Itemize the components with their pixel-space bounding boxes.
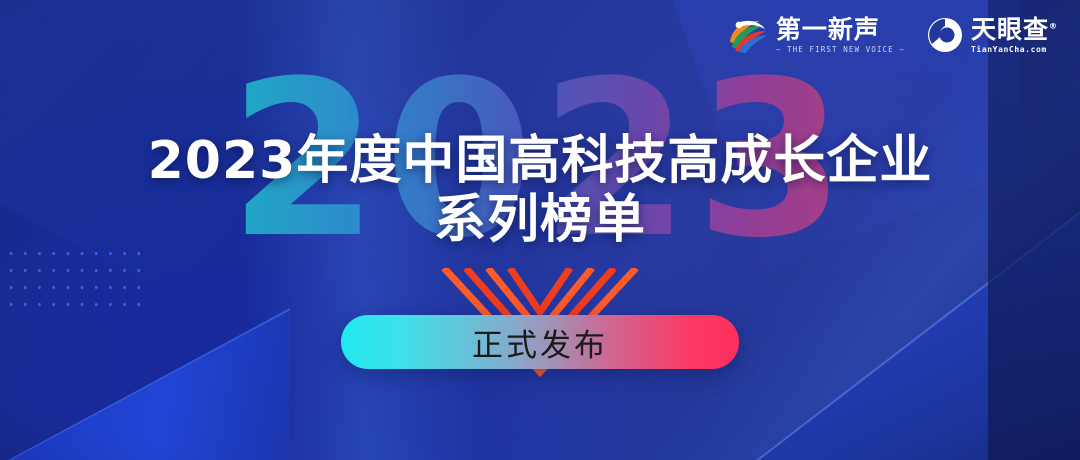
headline-line-2: 系列榜单 <box>0 191 1080 250</box>
release-status-label: 正式发布 <box>472 320 608 365</box>
diyixinsheng-text-block: 第一新声 — THE FIRST NEW VOICE — <box>776 17 905 54</box>
diyixinsheng-name-cn: 第一新声 <box>776 17 905 42</box>
headline-line-1: 2023年度中国高科技高成长企业 <box>148 131 933 191</box>
tianyancha-name-cn-text: 天眼查 <box>971 15 1049 44</box>
banner-headline: 2023年度中国高科技高成长企业 系列榜单 <box>0 132 1080 251</box>
dot-grid-decoration <box>4 245 146 307</box>
tianyancha-text-block: 天眼查® TianYanCha.com <box>971 17 1058 54</box>
promo-banner: 2023 2023年度中国高科技高成长企业 系列榜单 正式发布 <box>0 0 1080 460</box>
release-status-pill[interactable]: 正式发布 <box>341 315 739 369</box>
logo-diyixinsheng[interactable]: 第一新声 — THE FIRST NEW VOICE — <box>726 16 905 54</box>
registered-trademark-icon: ® <box>1049 21 1058 30</box>
logo-tianyancha[interactable]: 天眼查® TianYanCha.com <box>927 17 1058 54</box>
tianyancha-tagline: TianYanCha.com <box>971 46 1058 54</box>
diyixinsheng-tagline: — THE FIRST NEW VOICE — <box>776 46 905 54</box>
tianyancha-name-cn: 天眼查® <box>971 17 1058 42</box>
diyixinsheng-logo-mark <box>726 16 768 54</box>
tianyancha-logo-mark <box>927 17 963 53</box>
logo-bar: 第一新声 — THE FIRST NEW VOICE — 天眼查® TianYa… <box>726 16 1058 54</box>
